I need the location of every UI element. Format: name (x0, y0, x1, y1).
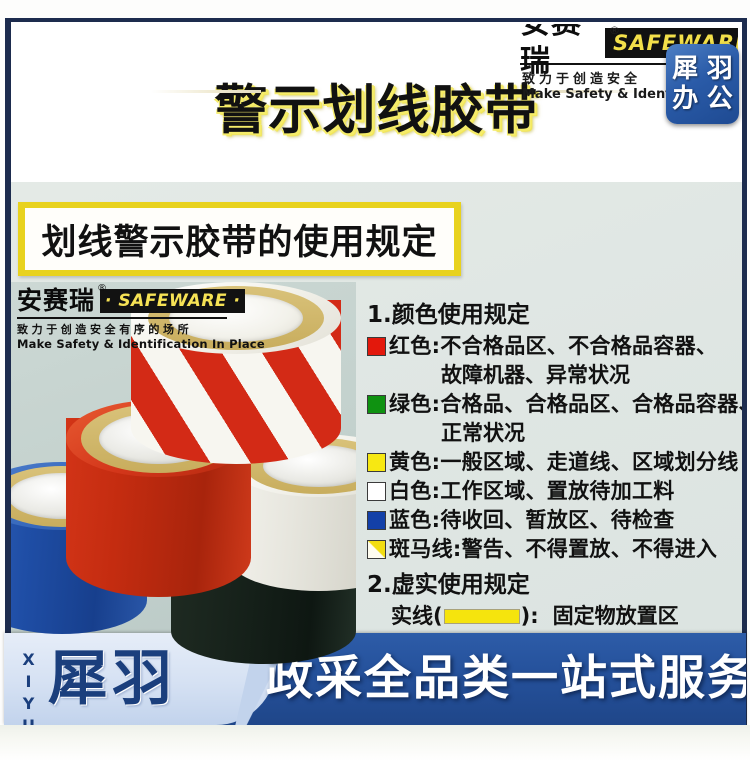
spec-section1-heading: 1.颜色使用规定 (367, 300, 747, 330)
color-swatch-white (367, 482, 386, 501)
color-swatch-yellow (367, 453, 386, 472)
spec-row-blue: 蓝色: 待收回、暂放区、待检查 (367, 506, 747, 535)
spec-value: 一般区域、走道线、区域划分线 (440, 448, 738, 477)
watermark-char-2: 羽 (703, 54, 738, 84)
line-description: 固定物放置区 (539, 601, 679, 631)
subtitle-inner: 划线警示胶带的使用规定 (25, 208, 454, 270)
registered-mark-icon: ® (97, 283, 107, 294)
watermark-badge: 犀 羽 办 公 (666, 44, 739, 124)
photo-brand-block: 安赛瑞 ® · SAFEWARE · 致力于创造安全有序的场所 Make Saf… (17, 286, 265, 351)
registered-mark-icon: ® (609, 24, 620, 37)
spec-value: 不合格品区、不合格品容器、 (440, 332, 717, 361)
spec-row-white: 白色: 工作区域、置放待加工料 (367, 477, 747, 506)
spec-value: 待收回、暂放区、待检查 (440, 506, 674, 535)
product-photo: 安赛瑞 ® · SAFEWARE · 致力于创造安全有序的场所 Make Saf… (11, 282, 356, 682)
color-swatch-blue (367, 511, 386, 530)
spec-label: 红色: (389, 332, 440, 361)
subtitle-banner: 划线警示胶带的使用规定 (18, 202, 461, 276)
spec-list: 1.颜色使用规定 红色: 不合格品区、不合格品容器、 故障机器、异常状况 绿色:… (367, 300, 747, 661)
spec-row-green: 绿色: 合格品、合格品区、合格品容器、 (367, 390, 747, 419)
line-suffix: ): (521, 601, 539, 631)
spec-label: 斑马线: (389, 535, 462, 564)
brand-latin-name: XIYU (20, 650, 36, 725)
poster-root: 警示划线胶带 安赛瑞 ® SAFEWARE 致力于创造安全 Make Safet… (0, 0, 750, 761)
spec-value: 合格品、合格品区、合格品容器、 (440, 390, 747, 419)
watermark-char-1: 犀 (668, 54, 703, 84)
photo-brand-name-cn: 安赛瑞 (17, 286, 95, 316)
watermark-char-3: 办 (668, 84, 703, 114)
solid-line-sample-icon (444, 609, 520, 624)
photo-brand-divider (17, 317, 227, 319)
spec-label: 蓝色: (389, 506, 440, 535)
spec-row-yellow: 黄色: 一般区域、走道线、区域划分线 (367, 448, 747, 477)
bottom-strip (0, 725, 750, 761)
spec-value: 工作区域、置放待加工料 (440, 477, 674, 506)
line-rule-solid: 实线( ): 固定物放置区 (367, 601, 747, 631)
spec-continuation: 故障机器、异常状况 (367, 361, 747, 390)
subtitle-text: 划线警示胶带的使用规定 (41, 214, 437, 265)
spec-label: 绿色: (389, 390, 440, 419)
spec-row-zebra: 斑马线: 警告、不得置放、不得进入 (367, 535, 747, 564)
line-prefix: 实线( (391, 601, 443, 631)
watermark-char-4: 公 (703, 84, 738, 114)
spec-value: 警告、不得置放、不得进入 (462, 535, 718, 564)
spec-row-red: 红色: 不合格品区、不合格品容器、 (367, 332, 747, 361)
spec-section2-heading: 2.虚实使用规定 (367, 570, 747, 601)
spec-label: 白色: (389, 477, 440, 506)
color-swatch-zebra (367, 540, 386, 559)
spec-label: 黄色: (389, 448, 440, 477)
photo-brand-row: 安赛瑞 ® · SAFEWARE · (17, 286, 265, 316)
photo-slogan-en: Make Safety & Identification In Place (17, 337, 265, 351)
spec-continuation: 正常状况 (367, 419, 747, 448)
color-swatch-green (367, 395, 386, 414)
photo-safeware-badge: · SAFEWARE · (100, 289, 245, 313)
poster-header: 警示划线胶带 安赛瑞 ® SAFEWARE 致力于创造安全 Make Safet… (11, 22, 742, 182)
color-swatch-red (367, 337, 386, 356)
photo-slogan-cn: 致力于创造安全有序的场所 (17, 321, 265, 337)
